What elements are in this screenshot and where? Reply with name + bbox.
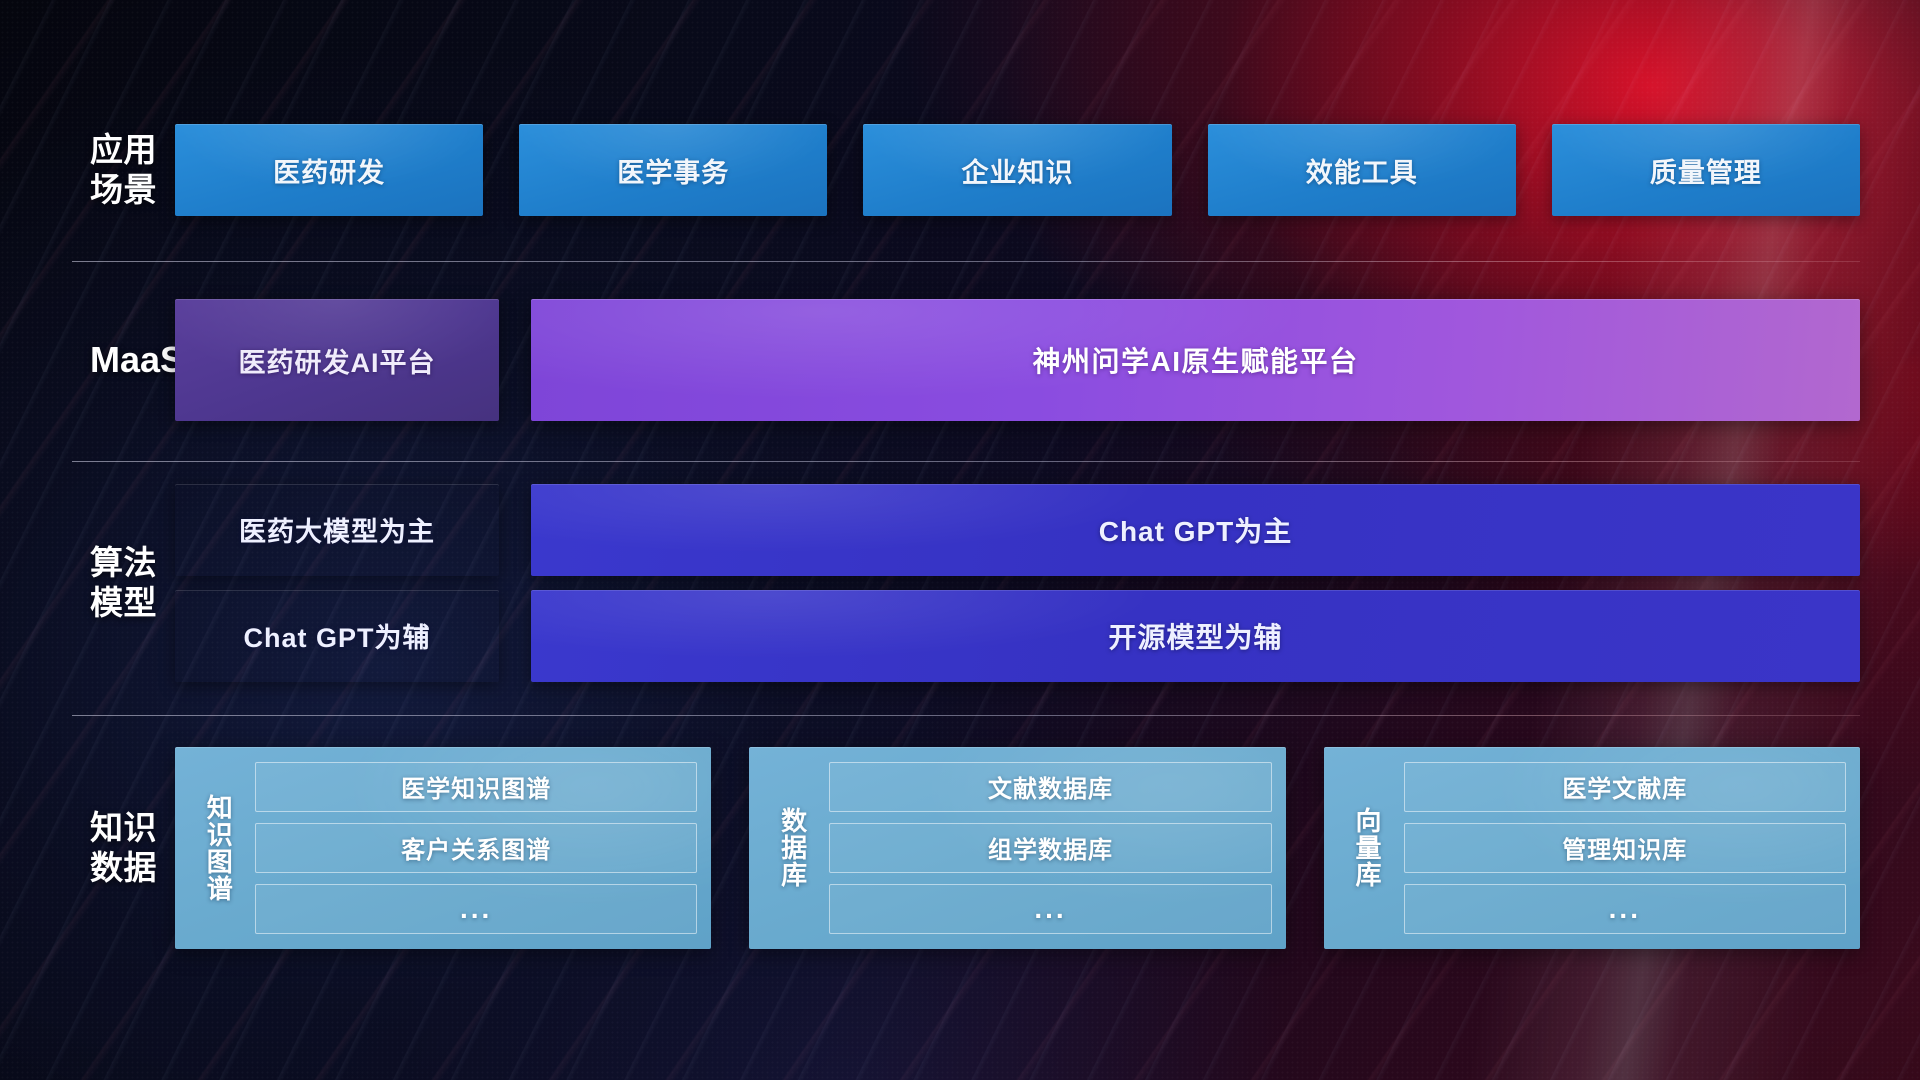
knowledge-group-knowledge-graph[interactable]: 知识图谱 医学知识图谱 客户关系图谱 ... [175,747,711,949]
tier-maas: MaaS 医药研发AI平台 神州问学AI原生赋能平台 [0,290,1920,430]
knowledge-group-title-vector-store: 向量库 [1336,759,1398,937]
tier-knowledge-data: 知识 数据 知识图谱 医学知识图谱 客户关系图谱 ... 数据库 [0,735,1920,960]
algo-box-chatgpt-primary[interactable]: Chat GPT为主 [531,484,1860,576]
tier-algorithm-models: 算法 模型 医药大模型为主 Chat GPT为主 Chat GPT为辅 开源模型… [0,475,1920,690]
knowledge-data-groups: 知识图谱 医学知识图谱 客户关系图谱 ... 数据库 文献数据库 组学数据库 .… [175,747,1920,949]
tier-application-scenarios: 应用 场景 医药研发 医学事务 企业知识 效能工具 质量管理 [0,110,1920,230]
scene-box-medical-affairs[interactable]: 医学事务 [519,124,827,216]
architecture-diagram: 应用 场景 医药研发 医学事务 企业知识 效能工具 质量管理 MaaS 医药研发… [0,0,1920,1080]
algo-box-medical-llm-primary[interactable]: 医药大模型为主 [175,484,499,576]
knowledge-item-medical-literature-store[interactable]: 医学文献库 [1404,762,1846,812]
knowledge-group-database[interactable]: 数据库 文献数据库 组学数据库 ... [749,747,1285,949]
scene-box-efficiency-tools[interactable]: 效能工具 [1208,124,1516,216]
knowledge-item-medical-knowledge-graph[interactable]: 医学知识图谱 [255,762,697,812]
tier-label-algorithm-models: 算法 模型 [0,543,175,622]
knowledge-item-more-database[interactable]: ... [829,884,1271,934]
maas-box-shenzhou-wenxue-platform[interactable]: 神州问学AI原生赋能平台 [531,299,1860,421]
algo-box-opensource-secondary[interactable]: 开源模型为辅 [531,590,1860,682]
maas-box-drug-rd-ai-platform[interactable]: 医药研发AI平台 [175,299,499,421]
knowledge-item-literature-database[interactable]: 文献数据库 [829,762,1271,812]
scene-box-drug-rd[interactable]: 医药研发 [175,124,483,216]
application-scenario-boxes: 医药研发 医学事务 企业知识 效能工具 质量管理 [175,124,1920,216]
algorithm-model-boxes: 医药大模型为主 Chat GPT为主 Chat GPT为辅 开源模型为辅 [175,484,1920,682]
knowledge-item-customer-relation-graph[interactable]: 客户关系图谱 [255,823,697,873]
knowledge-group-title-knowledge-graph: 知识图谱 [187,759,249,937]
tier-label-maas: MaaS [0,338,175,381]
algorithm-row-primary: 医药大模型为主 Chat GPT为主 [175,484,1860,576]
maas-boxes: 医药研发AI平台 神州问学AI原生赋能平台 [175,299,1920,421]
tier-label-knowledge-data: 知识 数据 [0,808,175,887]
knowledge-item-omics-database[interactable]: 组学数据库 [829,823,1271,873]
divider-after-application-scenarios [72,261,1860,262]
knowledge-group-vector-store[interactable]: 向量库 医学文献库 管理知识库 ... [1324,747,1860,949]
algorithm-row-secondary: Chat GPT为辅 开源模型为辅 [175,590,1860,682]
knowledge-item-more-vector[interactable]: ... [1404,884,1846,934]
knowledge-item-more-graph[interactable]: ... [255,884,697,934]
algo-box-chatgpt-secondary[interactable]: Chat GPT为辅 [175,590,499,682]
divider-after-algorithm-models [72,715,1860,716]
divider-after-maas [72,461,1860,462]
knowledge-group-title-database: 数据库 [761,759,823,937]
knowledge-item-management-knowledge-store[interactable]: 管理知识库 [1404,823,1846,873]
scene-box-quality-management[interactable]: 质量管理 [1552,124,1860,216]
tier-label-application-scenarios: 应用 场景 [0,130,175,209]
scene-box-enterprise-knowledge[interactable]: 企业知识 [863,124,1171,216]
